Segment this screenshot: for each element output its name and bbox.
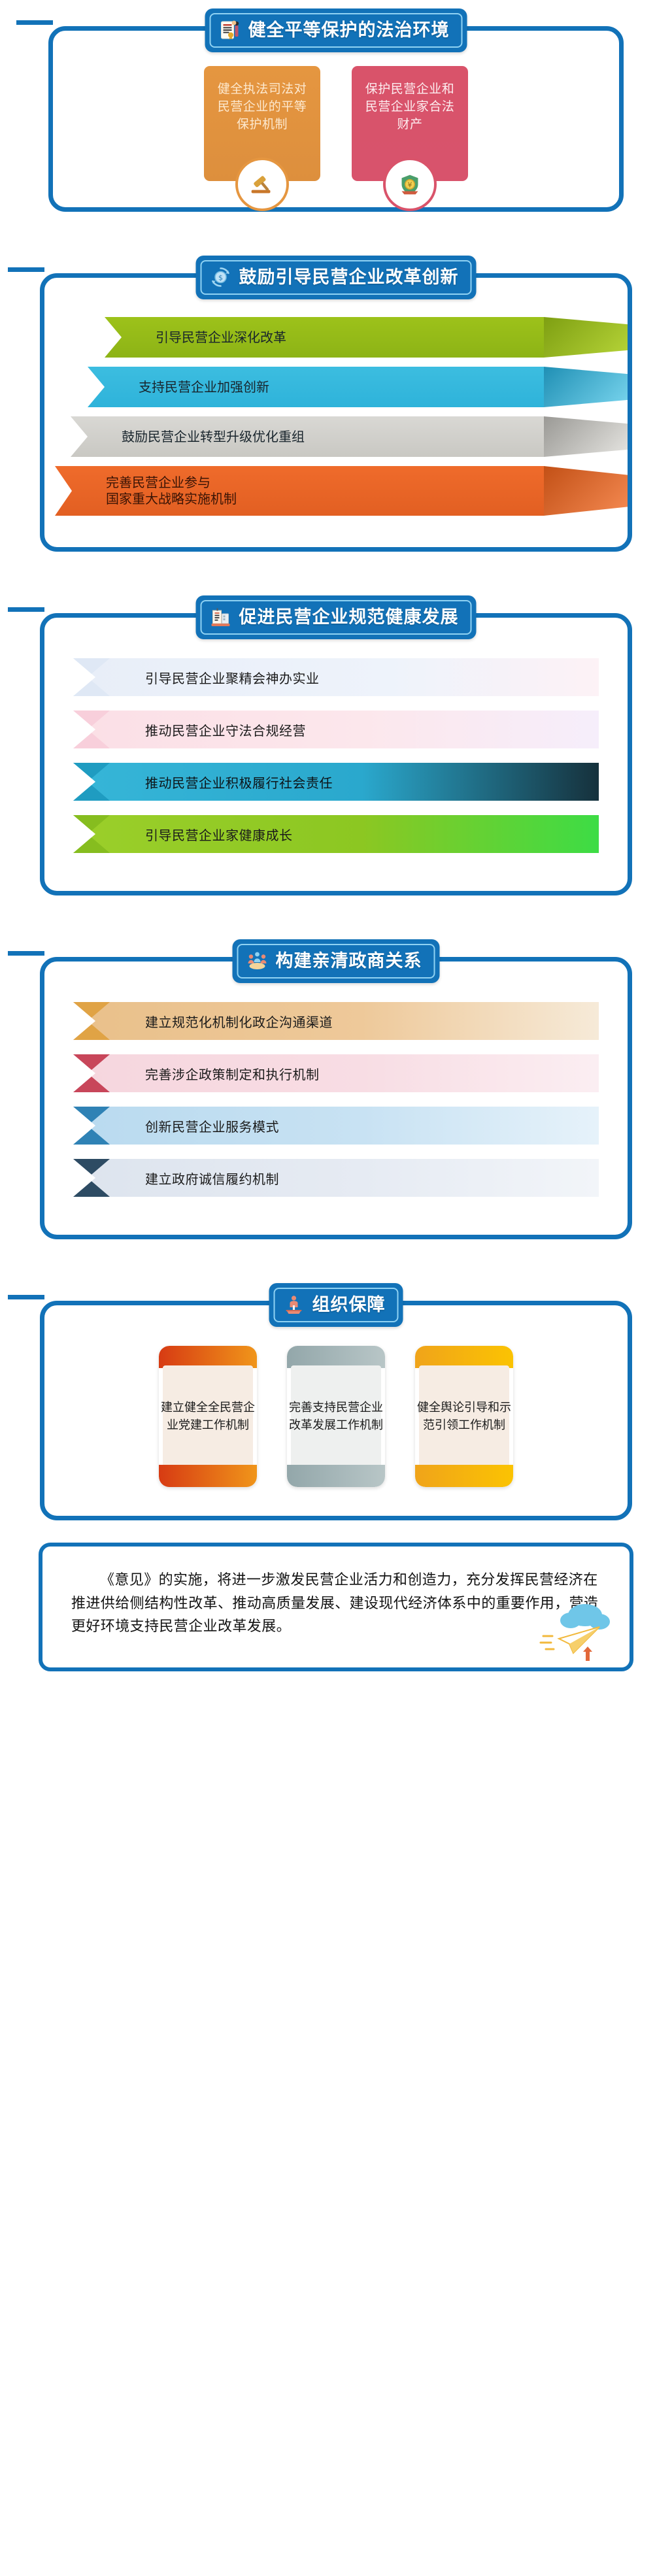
svg-text:¥: ¥: [408, 181, 412, 189]
card-text: 保护民营企业和民营企业家合法财产: [361, 80, 459, 133]
infographic-page: 健全平等保护的法治环境 健全执法司法对民营企业的平等保护机制: [0, 0, 672, 2576]
band-side-face: [544, 317, 628, 358]
conclusion-box: 《意见》的实施，将进一步激发民营企业活力和创造力，充分发挥民营经济在推进供给侧结…: [39, 1543, 633, 1671]
band-deepen-reform[interactable]: 引导民营企业深化改革: [44, 317, 628, 358]
section-header-healthy-development[interactable]: 促进民营企业规范健康发展: [196, 595, 477, 639]
pill-cap-bottom: [159, 1465, 257, 1487]
pill-cap-top: [287, 1346, 385, 1368]
coin-refresh-icon: $: [210, 266, 232, 288]
section-title: 鼓励引导民营企业改革创新: [239, 269, 459, 286]
chevron-tip: [73, 815, 110, 853]
spacer: [0, 552, 672, 590]
paper-plane-cloud-icon: [537, 1593, 615, 1664]
section-header-legal-environment[interactable]: 健全平等保护的法治环境: [205, 8, 467, 52]
row-text: 推动民营企业积极履行社会责任: [145, 773, 333, 792]
pill-cap-bottom: [415, 1465, 513, 1487]
organizational-pills: 建立健全全民营企业党建工作机制 完善支持民营企业改革发展工作机制 健全舆论引导和…: [44, 1305, 628, 1516]
chevron-tip: [73, 711, 110, 748]
chevron-tip: [73, 658, 110, 696]
pill-cap-top: [159, 1346, 257, 1368]
row-entrepreneur-growth[interactable]: 引导民营企业家健康成长: [73, 815, 599, 853]
spacer: [0, 895, 672, 933]
pill-text: 健全舆论引导和示范引领工作机制: [415, 1399, 513, 1434]
band-upgrade-restructure[interactable]: 鼓励民营企业转型升级优化重组: [44, 416, 628, 457]
pill-text: 完善支持民营企业改革发展工作机制: [287, 1399, 385, 1434]
person-podium-icon: [283, 1294, 305, 1316]
healthy-development-rows: 引导民营企业聚精会神办实业 推动民营企业守法合规经营 推动民营企业积极履行社会责…: [44, 618, 628, 891]
chevron-tip: [73, 1054, 110, 1092]
band-text: 引导民营企业深化改革: [156, 329, 286, 346]
svg-text:$: $: [218, 274, 223, 282]
band-side-face: [544, 416, 628, 457]
band-side-face: [544, 367, 628, 407]
gavel-icon: [235, 158, 289, 211]
pill-cap-top: [415, 1346, 513, 1368]
row-policy-execution[interactable]: 完善涉企政策制定和执行机制: [73, 1054, 599, 1092]
band-side-face: [544, 466, 628, 516]
conclusion-text: 《意见》的实施，将进一步激发民营企业活力和创造力，充分发挥民营经济在推进供给侧结…: [71, 1569, 601, 1639]
row-service-model[interactable]: 创新民营企业服务模式: [73, 1107, 599, 1145]
row-legal-compliance[interactable]: 推动民营企业守法合规经营: [73, 711, 599, 748]
section-title: 促进民营企业规范健康发展: [239, 609, 459, 626]
section-legal-environment: 健全平等保护的法治环境 健全执法司法对民营企业的平等保护机制: [48, 26, 624, 212]
row-text: 引导民营企业家健康成长: [145, 825, 293, 844]
shield-money-icon: ¥: [383, 158, 437, 211]
row-text: 引导民营企业聚精会神办实业: [145, 668, 320, 687]
section-header-gov-business-relations[interactable]: 构建亲清政商关系: [233, 939, 440, 983]
section-gov-business-relations: 构建亲清政商关系 建立规范化机制化政企沟通渠道 完善涉企政策制定和执行机制 创新…: [40, 957, 632, 1239]
chevron-tip: [73, 1107, 110, 1145]
section-healthy-development: 促进民营企业规范健康发展 引导民营企业聚精会神办实业 推动民营企业守法合规经营 …: [40, 613, 632, 895]
section-title: 组织保障: [312, 1296, 386, 1314]
row-text: 建立规范化机制化政企沟通渠道: [145, 1012, 333, 1031]
spacer: [0, 212, 672, 250]
band-text: 支持民营企业加强创新: [139, 379, 269, 395]
section-title: 健全平等保护的法治环境: [248, 22, 450, 39]
chevron-tip: [73, 763, 110, 801]
chevron-tip: [73, 1159, 110, 1197]
pill-public-opinion[interactable]: 健全舆论引导和示范引领工作机制: [415, 1346, 513, 1487]
band-support-innovation[interactable]: 支持民营企业加强创新: [44, 367, 628, 407]
row-text: 建立政府诚信履约机制: [145, 1169, 279, 1188]
row-social-responsibility[interactable]: 推动民营企业积极履行社会责任: [73, 763, 599, 801]
pill-cap-bottom: [287, 1465, 385, 1487]
row-communication-channel[interactable]: 建立规范化机制化政企沟通渠道: [73, 1002, 599, 1040]
connector-stub: [8, 951, 44, 956]
row-focus-real-economy[interactable]: 引导民营企业聚精会神办实业: [73, 658, 599, 696]
pyramid-bands: 引导民营企业深化改革 支持民营企业加强创新 鼓励民营企业转型升级优化重组 完善民…: [44, 278, 628, 547]
people-meeting-icon: [246, 950, 269, 972]
row-text: 完善涉企政策制定和执行机制: [145, 1064, 320, 1083]
section-organizational-guarantee: 组织保障 建立健全全民营企业党建工作机制 完善支持民营企业改革发展工作机制: [40, 1301, 632, 1520]
section-header-reform-innovation[interactable]: $ 鼓励引导民营企业改革创新: [196, 256, 477, 299]
pill-text: 建立健全全民营企业党建工作机制: [159, 1399, 257, 1434]
band-text: 鼓励民营企业转型升级优化重组: [122, 429, 305, 445]
band-text: 完善民营企业参与 国家重大战略实施机制: [106, 475, 237, 507]
pill-party-building[interactable]: 建立健全全民营企业党建工作机制: [159, 1346, 257, 1487]
band-national-strategy[interactable]: 完善民营企业参与 国家重大战略实施机制: [44, 466, 628, 516]
certificate-icon: [219, 19, 241, 41]
card-equal-protection[interactable]: 健全执法司法对民营企业的平等保护机制: [204, 66, 320, 181]
gov-business-rows: 建立规范化机制化政企沟通渠道 完善涉企政策制定和执行机制 创新民营企业服务模式 …: [44, 962, 628, 1235]
row-government-credibility[interactable]: 建立政府诚信履约机制: [73, 1159, 599, 1197]
row-text: 创新民营企业服务模式: [145, 1116, 279, 1135]
connector-stub: [8, 607, 44, 612]
connector-stub: [16, 20, 53, 25]
building-icon: [210, 606, 232, 628]
card-text: 健全执法司法对民营企业的平等保护机制: [213, 80, 311, 133]
chevron-tip: [73, 1002, 110, 1040]
section-title: 构建亲清政商关系: [276, 952, 422, 970]
section-header-organizational-guarantee[interactable]: 组织保障: [269, 1283, 403, 1327]
card-property-protection[interactable]: 保护民营企业和民营企业家合法财产 ¥: [352, 66, 468, 181]
section-reform-innovation: $ 鼓励引导民营企业改革创新 引导民营企业深化改革: [40, 273, 632, 552]
connector-stub: [8, 267, 44, 272]
row-text: 推动民营企业守法合规经营: [145, 720, 306, 739]
legal-environment-cards: 健全执法司法对民营企业的平等保护机制 保护民营企业和民营企业家合法财产: [53, 31, 619, 207]
pill-support-reform[interactable]: 完善支持民营企业改革发展工作机制: [287, 1346, 385, 1487]
connector-stub: [8, 1295, 44, 1299]
spacer: [0, 1239, 672, 1277]
